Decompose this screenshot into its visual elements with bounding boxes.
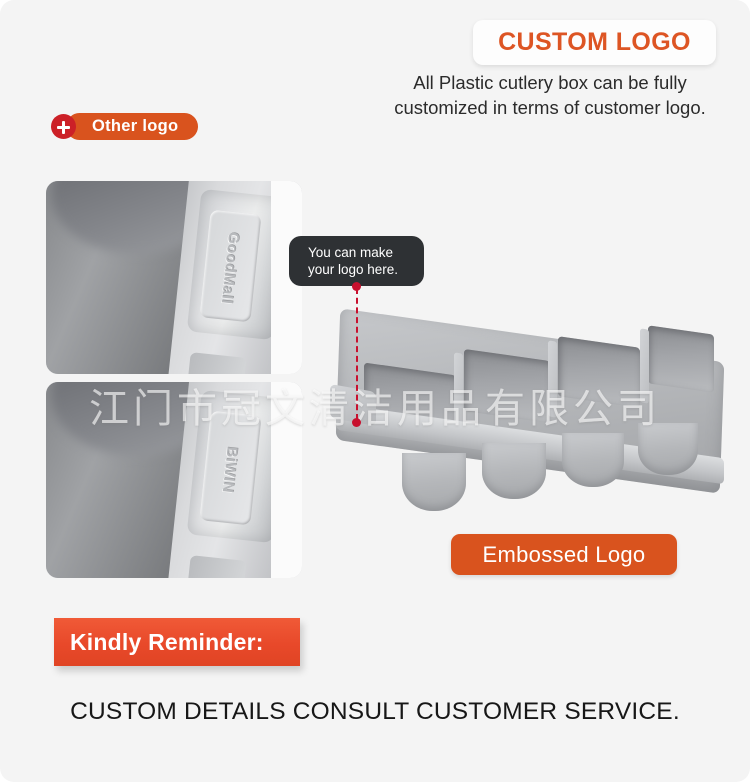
tray-divider-2 (548, 340, 557, 417)
tray-divider-3 (640, 328, 649, 403)
embossed-logo-closeup-1: GoodMall (46, 181, 302, 374)
kindly-reminder-label: Kindly Reminder: (70, 629, 264, 656)
logo-callout-line-2: your logo here. (308, 262, 398, 277)
other-logo-badge: Other logo (51, 113, 198, 140)
photo-edge-highlight (271, 382, 302, 578)
plus-icon (51, 114, 76, 139)
embossed-logo-label: Embossed Logo (483, 542, 646, 568)
other-logo-label: Other logo (92, 117, 178, 136)
tray-pocket-3 (562, 433, 624, 487)
tray-cell-3 (558, 336, 640, 408)
kindly-reminder-banner: Kindly Reminder: (54, 618, 300, 666)
other-logo-pill: Other logo (66, 113, 198, 140)
pointer-dashed-line (356, 288, 358, 420)
pointer-dot-bottom (352, 418, 361, 427)
embossed-logo-badge: Embossed Logo (451, 534, 677, 575)
tray-corner-image-2: BiWIN (46, 382, 302, 578)
tray-cell-4 (648, 325, 714, 392)
custom-logo-label: CUSTOM LOGO (498, 28, 691, 57)
logo-callout-line-1: You can make (308, 245, 393, 260)
tray-cell-2 (464, 349, 550, 423)
intro-description: All Plastic cutlery box can be fully cus… (372, 70, 728, 120)
tray-pocket-1 (402, 453, 466, 511)
tray-corner-image-1: GoodMall (46, 181, 302, 374)
logo-callout-bubble: You can make your logo here. (289, 236, 424, 286)
tray-pocket-4 (638, 423, 698, 475)
tray-pocket-2 (482, 443, 546, 499)
custom-logo-badge: CUSTOM LOGO (473, 20, 716, 65)
embossed-logo-closeup-2: BiWIN (46, 382, 302, 578)
logo-callout-text: You can make your logo here. (308, 244, 398, 278)
product-detail-banner: CUSTOM LOGO All Plastic cutlery box can … (0, 0, 750, 782)
plastic-cutlery-box-photo (330, 325, 730, 540)
bottom-caption: CUSTOM DETAILS CONSULT CUSTOMER SERVICE. (0, 698, 750, 726)
